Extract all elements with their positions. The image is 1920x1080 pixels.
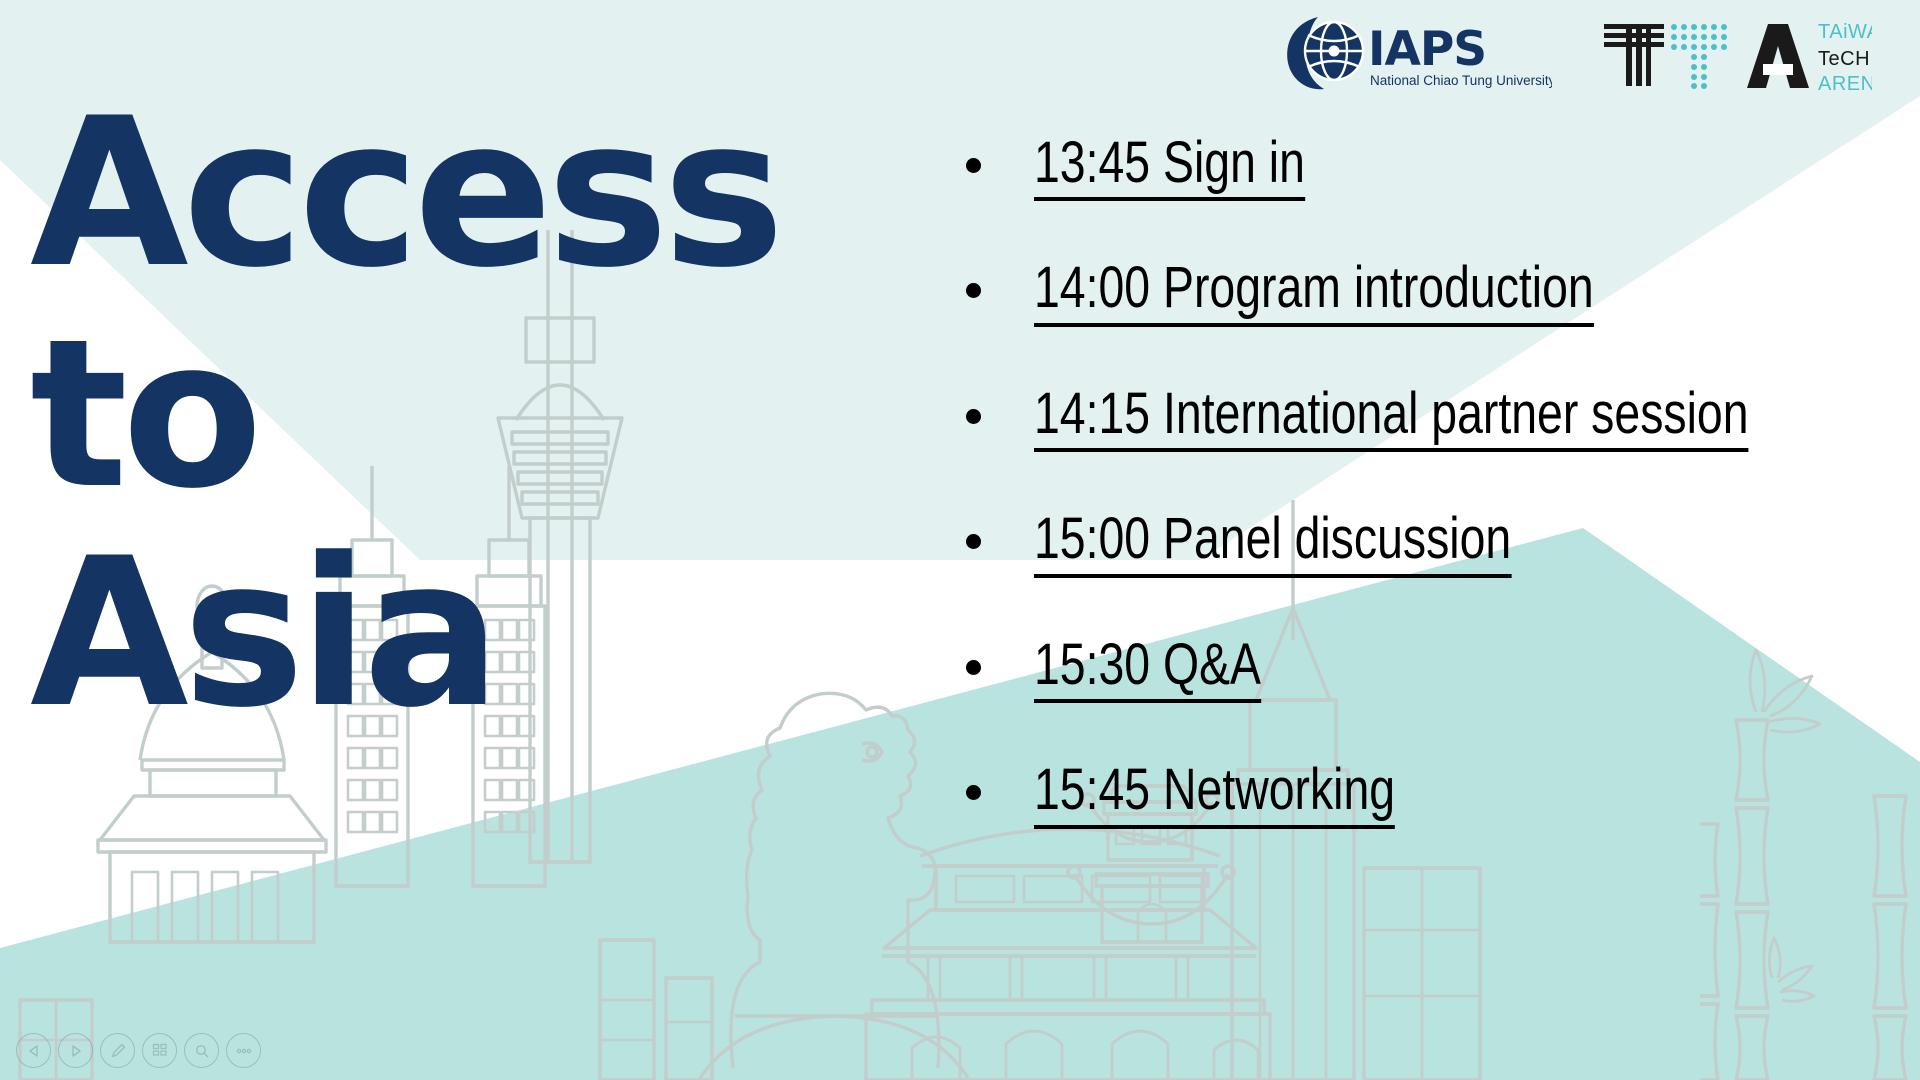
- next-slide-button[interactable]: [58, 1033, 93, 1068]
- list-item: 15:45 Networking: [952, 759, 1902, 828]
- agenda-item-label: 15:00 Panel discussion: [1034, 508, 1511, 577]
- more-options-icon: [235, 1048, 253, 1054]
- title-line-1: Access: [30, 96, 830, 293]
- tta-dotted-t-icon: [1671, 24, 1727, 89]
- iaps-logo: IAPS National Chiao Tung University: [1282, 15, 1552, 91]
- chinese-gate-icon: [866, 829, 1270, 1080]
- bullet-dot-icon: [966, 158, 981, 173]
- list-item: 15:30 Q&A: [952, 634, 1902, 703]
- agenda-item-label: 13:45 Sign in: [1034, 132, 1305, 201]
- agenda-item-label: 14:15 International partner session: [1034, 383, 1749, 452]
- iaps-wordmark: IAPS: [1368, 22, 1486, 77]
- slim-towers-icon: [600, 940, 712, 1080]
- previous-slide-button[interactable]: [16, 1033, 51, 1068]
- pen-button[interactable]: [100, 1033, 135, 1068]
- right-edge-column-icon: [1874, 796, 1906, 1080]
- agenda-item-label: 15:45 Networking: [1034, 759, 1395, 828]
- slideshow-toolbar[interactable]: [16, 1033, 261, 1068]
- next-slide-icon: [69, 1044, 83, 1058]
- bullet-dot-icon: [966, 283, 981, 298]
- previous-slide-icon: [27, 1044, 41, 1058]
- all-slides-icon: [152, 1043, 168, 1059]
- tta-line2: TeCH: [1818, 48, 1870, 70]
- pen-icon: [109, 1042, 127, 1060]
- list-item: 14:00 Program introduction: [952, 257, 1902, 326]
- tta-line1: TAiWAN: [1818, 21, 1872, 43]
- more-options-button[interactable]: [226, 1033, 261, 1068]
- office-block-icon: [1364, 868, 1480, 1080]
- title-line-3: Asia: [30, 536, 830, 733]
- iaps-subtitle: National Chiao Tung University: [1370, 73, 1552, 88]
- zoom-button[interactable]: [184, 1033, 219, 1068]
- bullet-dot-icon: [966, 660, 981, 675]
- logo-row: IAPS National Chiao Tung University: [1282, 14, 1872, 92]
- iaps-globe-icon: [1287, 17, 1363, 89]
- list-item: 13:45 Sign in: [952, 132, 1902, 201]
- list-item: 14:15 International partner session: [952, 383, 1902, 452]
- zoom-icon: [194, 1043, 210, 1059]
- bullet-dot-icon: [966, 534, 981, 549]
- list-item: 15:00 Panel discussion: [952, 508, 1902, 577]
- presentation-slide: IAPS National Chiao Tung University: [0, 0, 1920, 1080]
- tta-line3: ARENA: [1818, 73, 1872, 92]
- tta-solid-a-icon: [1747, 24, 1809, 88]
- slide-title: Access to Asia: [30, 96, 830, 732]
- all-slides-button[interactable]: [142, 1033, 177, 1068]
- agenda-list: 13:45 Sign in 14:00 Program introduction…: [952, 132, 1902, 829]
- bullet-dot-icon: [966, 409, 981, 424]
- agenda-item-label: 15:30 Q&A: [1034, 634, 1261, 703]
- tta-logo: TAiWAN TeCH ARENA: [1604, 14, 1872, 92]
- title-line-2: to: [30, 317, 830, 514]
- tta-striped-t-icon: [1604, 24, 1664, 86]
- agenda-item-label: 14:00 Program introduction: [1034, 257, 1594, 326]
- merlion-icon: [700, 693, 968, 1078]
- bullet-dot-icon: [966, 785, 981, 800]
